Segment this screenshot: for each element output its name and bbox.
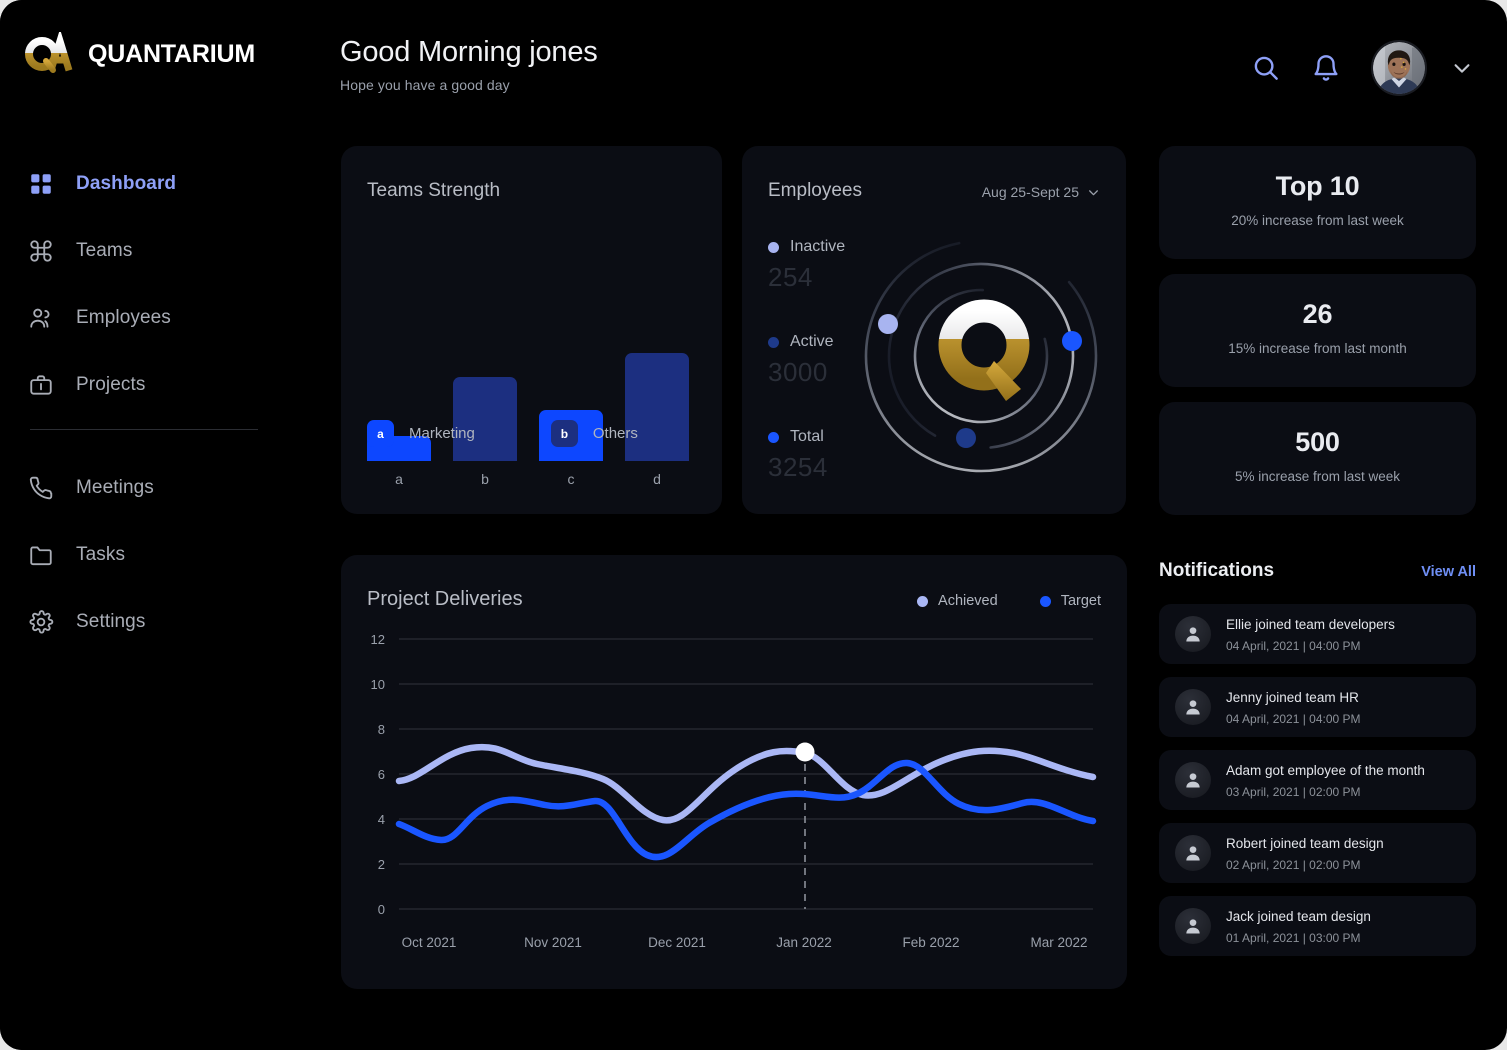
briefcase-icon <box>28 372 54 398</box>
employee-stat-label: Total <box>790 428 824 446</box>
employee-stat-active: Active 3000 <box>768 333 845 388</box>
legend-chip-b: b <box>551 420 578 447</box>
legend-label-target: Target <box>1061 593 1101 609</box>
sidebar-item-tasks[interactable]: Tasks <box>0 531 300 579</box>
bar-label-b: b <box>453 471 517 487</box>
sidebar-item-label: Employees <box>76 307 171 329</box>
legend-label-achieved: Achieved <box>938 593 998 609</box>
folder-icon <box>28 542 54 568</box>
stat-card-500[interactable]: 500 5% increase from last week <box>1159 402 1476 515</box>
y-tick-12: 12 <box>371 632 385 647</box>
user-icon <box>1175 762 1211 798</box>
employee-stat-inactive: Inactive 254 <box>768 238 845 293</box>
phone-icon <box>28 475 54 501</box>
legend-item-achieved[interactable]: Achieved <box>917 593 998 609</box>
sidebar-item-label: Teams <box>76 240 132 262</box>
bell-icon[interactable] <box>1311 53 1341 83</box>
x-tick-jan-2022: Jan 2022 <box>776 935 832 950</box>
x-tick-dec-2021: Dec 2021 <box>648 935 706 950</box>
search-icon[interactable] <box>1251 53 1281 83</box>
y-tick-10: 10 <box>371 677 385 692</box>
bar-b <box>453 377 517 461</box>
qa-monogram-icon <box>22 32 80 76</box>
x-tick-mar-2022: Mar 2022 <box>1030 935 1087 950</box>
page-title: Good Morning jones <box>340 36 598 69</box>
notification-time: 04 April, 2021 | 04:00 PM <box>1226 639 1395 653</box>
y-tick-4: 4 <box>378 812 385 827</box>
sidebar-nav: Dashboard Teams <box>0 160 300 665</box>
sidebar-item-label: Settings <box>76 611 145 633</box>
notifications-title: Notifications <box>1159 560 1274 582</box>
greeting-block: Good Morning jones Hope you have a good … <box>340 36 598 93</box>
stat-subtitle: 15% increase from last month <box>1159 341 1476 356</box>
dashboard-app: QUANTARIUM Dashboard <box>0 0 1507 1050</box>
sidebar-item-label: Dashboard <box>76 173 176 195</box>
brand-name: QUANTARIUM <box>88 40 255 69</box>
teams-strength-card: Teams Strength a b c d a Marketing <box>341 146 722 514</box>
page-subtitle: Hope you have a good day <box>340 77 598 93</box>
gear-icon <box>28 609 54 635</box>
sidebar-item-dashboard[interactable]: Dashboard <box>0 160 300 208</box>
sidebar-item-label: Tasks <box>76 544 125 566</box>
orbit-dot-active <box>956 428 976 448</box>
employee-stat-value: 3000 <box>768 357 845 388</box>
notification-message: Jack joined team design <box>1226 909 1371 924</box>
stat-card-26[interactable]: 26 15% increase from last month <box>1159 274 1476 387</box>
legend-label-others: Others <box>593 425 638 442</box>
employee-stat-label: Inactive <box>790 238 845 256</box>
teams-strength-legend: a Marketing b Others <box>367 420 638 447</box>
card-title: Teams Strength <box>367 180 500 202</box>
list-item[interactable]: Jack joined team design 01 April, 2021 |… <box>1159 896 1476 956</box>
chevron-down-icon[interactable] <box>1451 57 1473 79</box>
list-item[interactable]: Robert joined team design 02 April, 2021… <box>1159 823 1476 883</box>
command-icon <box>28 238 54 264</box>
brand-logo[interactable]: QUANTARIUM <box>22 32 255 76</box>
x-tick-nov-2021: Nov 2021 <box>524 935 582 950</box>
date-range-label: Aug 25-Sept 25 <box>982 184 1079 200</box>
notification-time: 01 April, 2021 | 03:00 PM <box>1226 931 1371 945</box>
y-tick-6: 6 <box>378 767 385 782</box>
user-icon <box>1175 908 1211 944</box>
y-tick-8: 8 <box>378 722 385 737</box>
x-tick-feb-2022: Feb 2022 <box>902 935 959 950</box>
sidebar-item-label: Projects <box>76 374 145 396</box>
view-all-link[interactable]: View All <box>1421 564 1476 580</box>
legend-item-others[interactable]: b Others <box>551 420 638 447</box>
stat-value: 26 <box>1159 299 1476 330</box>
y-tick-2: 2 <box>378 857 385 872</box>
y-tick-0: 0 <box>378 902 385 917</box>
employee-stat-value: 3254 <box>768 452 845 483</box>
project-legend: Achieved Target <box>917 593 1101 609</box>
status-dot-active <box>768 337 779 348</box>
sidebar-item-settings[interactable]: Settings <box>0 598 300 646</box>
top-header: Good Morning jones Hope you have a good … <box>300 0 1507 128</box>
sidebar-item-projects[interactable]: Projects <box>0 361 300 409</box>
notifications-list: Ellie joined team developers 04 April, 2… <box>1159 604 1476 956</box>
notification-time: 02 April, 2021 | 02:00 PM <box>1226 858 1384 872</box>
legend-dot-target <box>1040 596 1051 607</box>
notification-message: Jenny joined team HR <box>1226 690 1359 705</box>
card-title: Project Deliveries <box>367 588 523 611</box>
notifications-header: Notifications View All <box>1159 560 1476 582</box>
sidebar-divider <box>30 429 258 430</box>
teams-strength-bar-chart: a b c d <box>367 261 697 491</box>
notification-message: Ellie joined team developers <box>1226 617 1395 632</box>
avatar[interactable] <box>1371 40 1427 96</box>
stat-subtitle: 20% increase from last week <box>1159 213 1476 228</box>
orbit-dot-inactive <box>878 314 898 334</box>
header-actions <box>1251 40 1473 96</box>
legend-item-marketing[interactable]: a Marketing <box>367 420 475 447</box>
sidebar: QUANTARIUM Dashboard <box>0 0 300 1050</box>
status-dot-inactive <box>768 242 779 253</box>
notification-message: Robert joined team design <box>1226 836 1384 851</box>
chevron-down-icon <box>1087 186 1100 199</box>
notification-message: Adam got employee of the month <box>1226 763 1425 778</box>
stat-value: 500 <box>1159 427 1476 458</box>
users-icon <box>28 305 54 331</box>
legend-label-marketing: Marketing <box>409 425 475 442</box>
bar-label-d: d <box>625 471 689 487</box>
sidebar-item-teams[interactable]: Teams <box>0 227 300 275</box>
legend-dot-achieved <box>917 596 928 607</box>
notifications-panel: Notifications View All Ellie joined team… <box>1159 560 1476 969</box>
notification-time: 04 April, 2021 | 04:00 PM <box>1226 712 1361 726</box>
employee-stats: Inactive 254 Active 3000 Total 3254 <box>768 238 845 523</box>
employee-stat-label: Active <box>790 333 834 351</box>
line-chart-svg: 12 10 8 6 4 2 0 Oct 2021 Nov 2021 Dec 20… <box>341 631 1127 989</box>
stat-subtitle: 5% increase from last week <box>1159 469 1476 484</box>
notification-time: 03 April, 2021 | 02:00 PM <box>1226 785 1425 799</box>
legend-item-target[interactable]: Target <box>1040 593 1101 609</box>
status-dot-total <box>768 432 779 443</box>
list-item[interactable]: Ellie joined team developers 04 April, 2… <box>1159 604 1476 664</box>
project-deliveries-line-chart[interactable]: 12 10 8 6 4 2 0 Oct 2021 Nov 2021 Dec 20… <box>341 631 1127 989</box>
x-tick-oct-2021: Oct 2021 <box>402 935 457 950</box>
sidebar-item-employees[interactable]: Employees <box>0 294 300 342</box>
bar-label-c: c <box>539 471 603 487</box>
employees-card: Employees Aug 25-Sept 25 Inactive 254 Ac… <box>742 146 1126 514</box>
series-line-target <box>399 763 1093 857</box>
sidebar-item-meetings[interactable]: Meetings <box>0 464 300 512</box>
card-title: Employees <box>768 180 862 202</box>
list-item[interactable]: Adam got employee of the month 03 April,… <box>1159 750 1476 810</box>
stat-card-top10[interactable]: Top 10 20% increase from last week <box>1159 146 1476 259</box>
list-item[interactable]: Jenny joined team HR 04 April, 2021 | 04… <box>1159 677 1476 737</box>
employee-stat-total: Total 3254 <box>768 428 845 483</box>
user-icon <box>1175 616 1211 652</box>
legend-chip-a: a <box>367 420 394 447</box>
project-deliveries-card: Project Deliveries Achieved Target <box>341 555 1127 989</box>
sidebar-item-label: Meetings <box>76 477 154 499</box>
data-point-marker <box>796 743 815 762</box>
date-range-selector[interactable]: Aug 25-Sept 25 <box>982 184 1100 200</box>
bar-label-a: a <box>367 471 431 487</box>
employee-orbit-graphic <box>846 221 1116 491</box>
user-icon <box>1175 835 1211 871</box>
user-icon <box>1175 689 1211 725</box>
orbit-dot-total <box>1062 331 1082 351</box>
stat-value: Top 10 <box>1159 171 1476 202</box>
grid-icon <box>28 171 54 197</box>
employee-stat-value: 254 <box>768 262 845 293</box>
